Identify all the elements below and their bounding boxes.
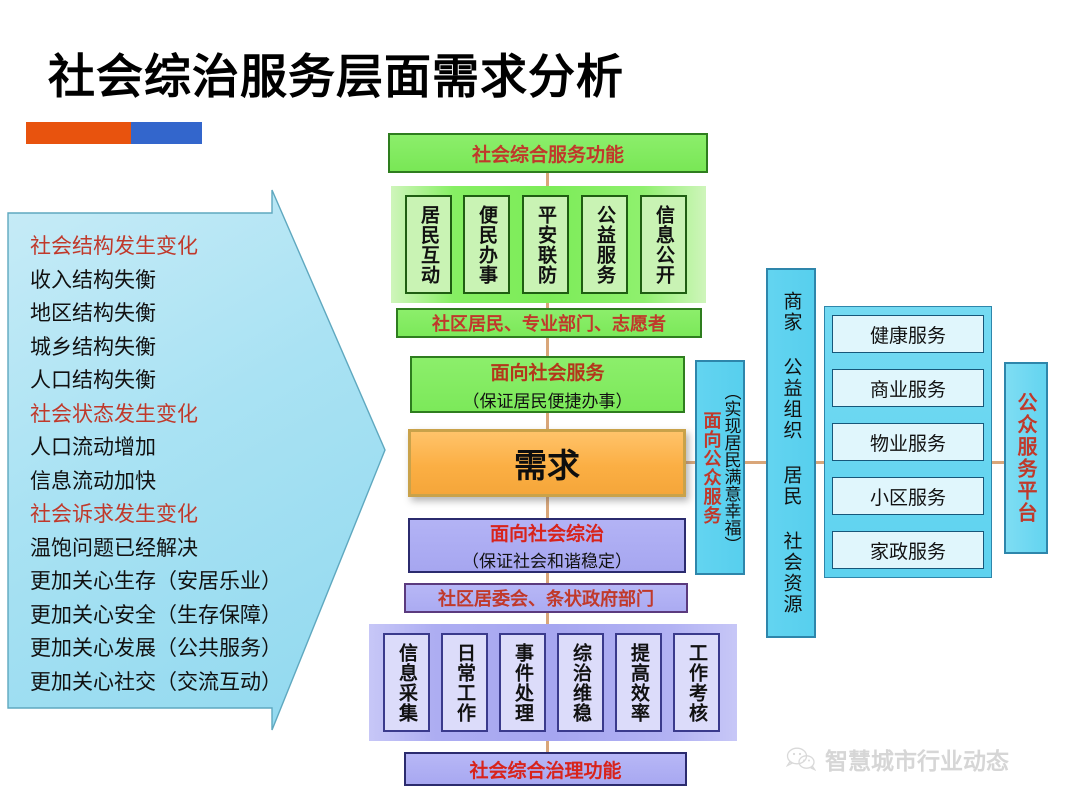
cell-label: 提高效率	[629, 643, 648, 723]
connector-vertical	[546, 338, 549, 357]
list-item: 收入结构失衡	[30, 264, 280, 298]
connector-vertical	[546, 413, 549, 430]
list-item: 地区结构失衡	[30, 297, 280, 331]
service-row[interactable]: 物业服务	[832, 423, 984, 461]
demand-drivers-list: 社会结构发生变化 收入结构失衡 地区结构失衡 城乡结构失衡 人口结构失衡 社会状…	[30, 230, 280, 699]
list-item: 温饱问题已经解决	[30, 532, 280, 566]
list-item: 信息流动加快	[30, 465, 280, 499]
list-item: 更加关心安全（生存保障）	[30, 599, 280, 633]
governance-function-cell[interactable]: 提高效率	[615, 633, 662, 732]
public-service-platform: 公众服务平台	[1004, 362, 1048, 554]
page-title: 社会综治服务层面需求分析	[48, 38, 624, 107]
accent-bar	[26, 122, 202, 144]
connector-horizontal	[745, 461, 768, 464]
governance-function-cell[interactable]: 事件处理	[499, 633, 546, 732]
public-service-title: 面向公众服务	[702, 411, 720, 525]
service-members: 社区居民、专业部门、志愿者	[396, 308, 702, 338]
cell-label: 事件处理	[513, 643, 532, 723]
service-aim-sub: （保证居民便捷办事）	[463, 387, 633, 412]
connector-vertical	[546, 173, 549, 187]
cell-label: 工作考核	[687, 643, 706, 723]
diagram-canvas: 社会综治服务层面需求分析 社会结构发生变化 收入结构失衡 地区结构失衡 城乡结构…	[0, 0, 1080, 810]
service-row[interactable]: 商业服务	[832, 369, 984, 407]
list-item: 社会状态发生变化	[30, 398, 280, 432]
core-demand-box: 需求	[408, 429, 686, 497]
governance-aim-sub: （保证社会和谐稳定）	[462, 547, 632, 572]
watermark-text: 智慧城市行业动态	[825, 742, 1009, 776]
governance-function-cell[interactable]: 日常工作	[441, 633, 488, 732]
public-service-box: 面向公众服务 （实现居民满意幸福）	[695, 360, 745, 575]
service-function-header: 社会综合服务功能	[388, 133, 708, 173]
list-item: 社会结构发生变化	[30, 230, 280, 264]
governance-members: 社区居委会、条状政府部门	[404, 583, 688, 613]
public-service-sub: （实现居民满意幸福）	[722, 383, 739, 553]
service-aim: 面向社会服务 （保证居民便捷办事）	[410, 356, 685, 413]
governance-function-strip: 信息采集 日常工作 事件处理 综治维稳 提高效率 工作考核	[369, 624, 737, 741]
list-item: 人口结构失衡	[30, 364, 280, 398]
service-aim-title: 面向社会服务	[490, 358, 604, 385]
list-item: 城乡结构失衡	[30, 331, 280, 365]
public-service-list: 健康服务 商业服务 物业服务 小区服务 家政服务	[824, 306, 992, 578]
public-actors-label: 商家 公益组织 居民 社会资源	[782, 291, 801, 615]
service-row[interactable]: 小区服务	[832, 477, 984, 515]
list-item: 更加关心生存（安居乐业）	[30, 565, 280, 599]
accent-bar-blue	[131, 122, 202, 144]
watermark: 智慧城市行业动态	[786, 742, 1009, 776]
governance-function-cell[interactable]: 信息采集	[383, 633, 430, 732]
governance-aim: 面向社会综治 （保证社会和谐稳定）	[408, 518, 686, 573]
wechat-icon	[786, 747, 816, 771]
list-item: 更加关心社交（交流互动）	[30, 666, 280, 700]
list-item: 更加关心发展（公共服务）	[30, 632, 280, 666]
governance-function-footer: 社会综合治理功能	[404, 752, 687, 786]
cell-label: 信息采集	[397, 643, 416, 723]
platform-label: 公众服务平台	[1016, 392, 1036, 524]
list-item: 社会诉求发生变化	[30, 498, 280, 532]
cell-label: 公益服务	[595, 205, 614, 285]
governance-aim-title: 面向社会综治	[490, 519, 604, 546]
cell-label: 综治维稳	[571, 643, 590, 723]
cell-label: 日常工作	[455, 643, 474, 723]
service-function-cell[interactable]: 平安联防	[522, 195, 569, 294]
cell-label: 便民办事	[477, 205, 496, 285]
service-row[interactable]: 家政服务	[832, 531, 984, 569]
service-function-cell[interactable]: 居民互动	[405, 195, 452, 294]
service-row[interactable]: 健康服务	[832, 315, 984, 353]
governance-function-cell[interactable]: 工作考核	[673, 633, 720, 732]
governance-function-cell[interactable]: 综治维稳	[557, 633, 604, 732]
cell-label: 信息公开	[654, 205, 673, 285]
cell-label: 居民互动	[419, 205, 438, 285]
service-function-cell[interactable]: 信息公开	[640, 195, 687, 294]
service-function-strip: 居民互动 便民办事 平安联防 公益服务 信息公开	[391, 186, 706, 303]
cell-label: 平安联防	[536, 205, 555, 285]
service-function-cell[interactable]: 便民办事	[463, 195, 510, 294]
connector-vertical	[546, 497, 549, 519]
accent-bar-orange	[26, 122, 131, 144]
list-item: 人口流动增加	[30, 431, 280, 465]
demand-drivers-arrow: 社会结构发生变化 收入结构失衡 地区结构失衡 城乡结构失衡 人口结构失衡 社会状…	[0, 178, 392, 738]
service-function-cell[interactable]: 公益服务	[581, 195, 628, 294]
public-actors-box: 商家 公益组织 居民 社会资源	[766, 268, 816, 638]
